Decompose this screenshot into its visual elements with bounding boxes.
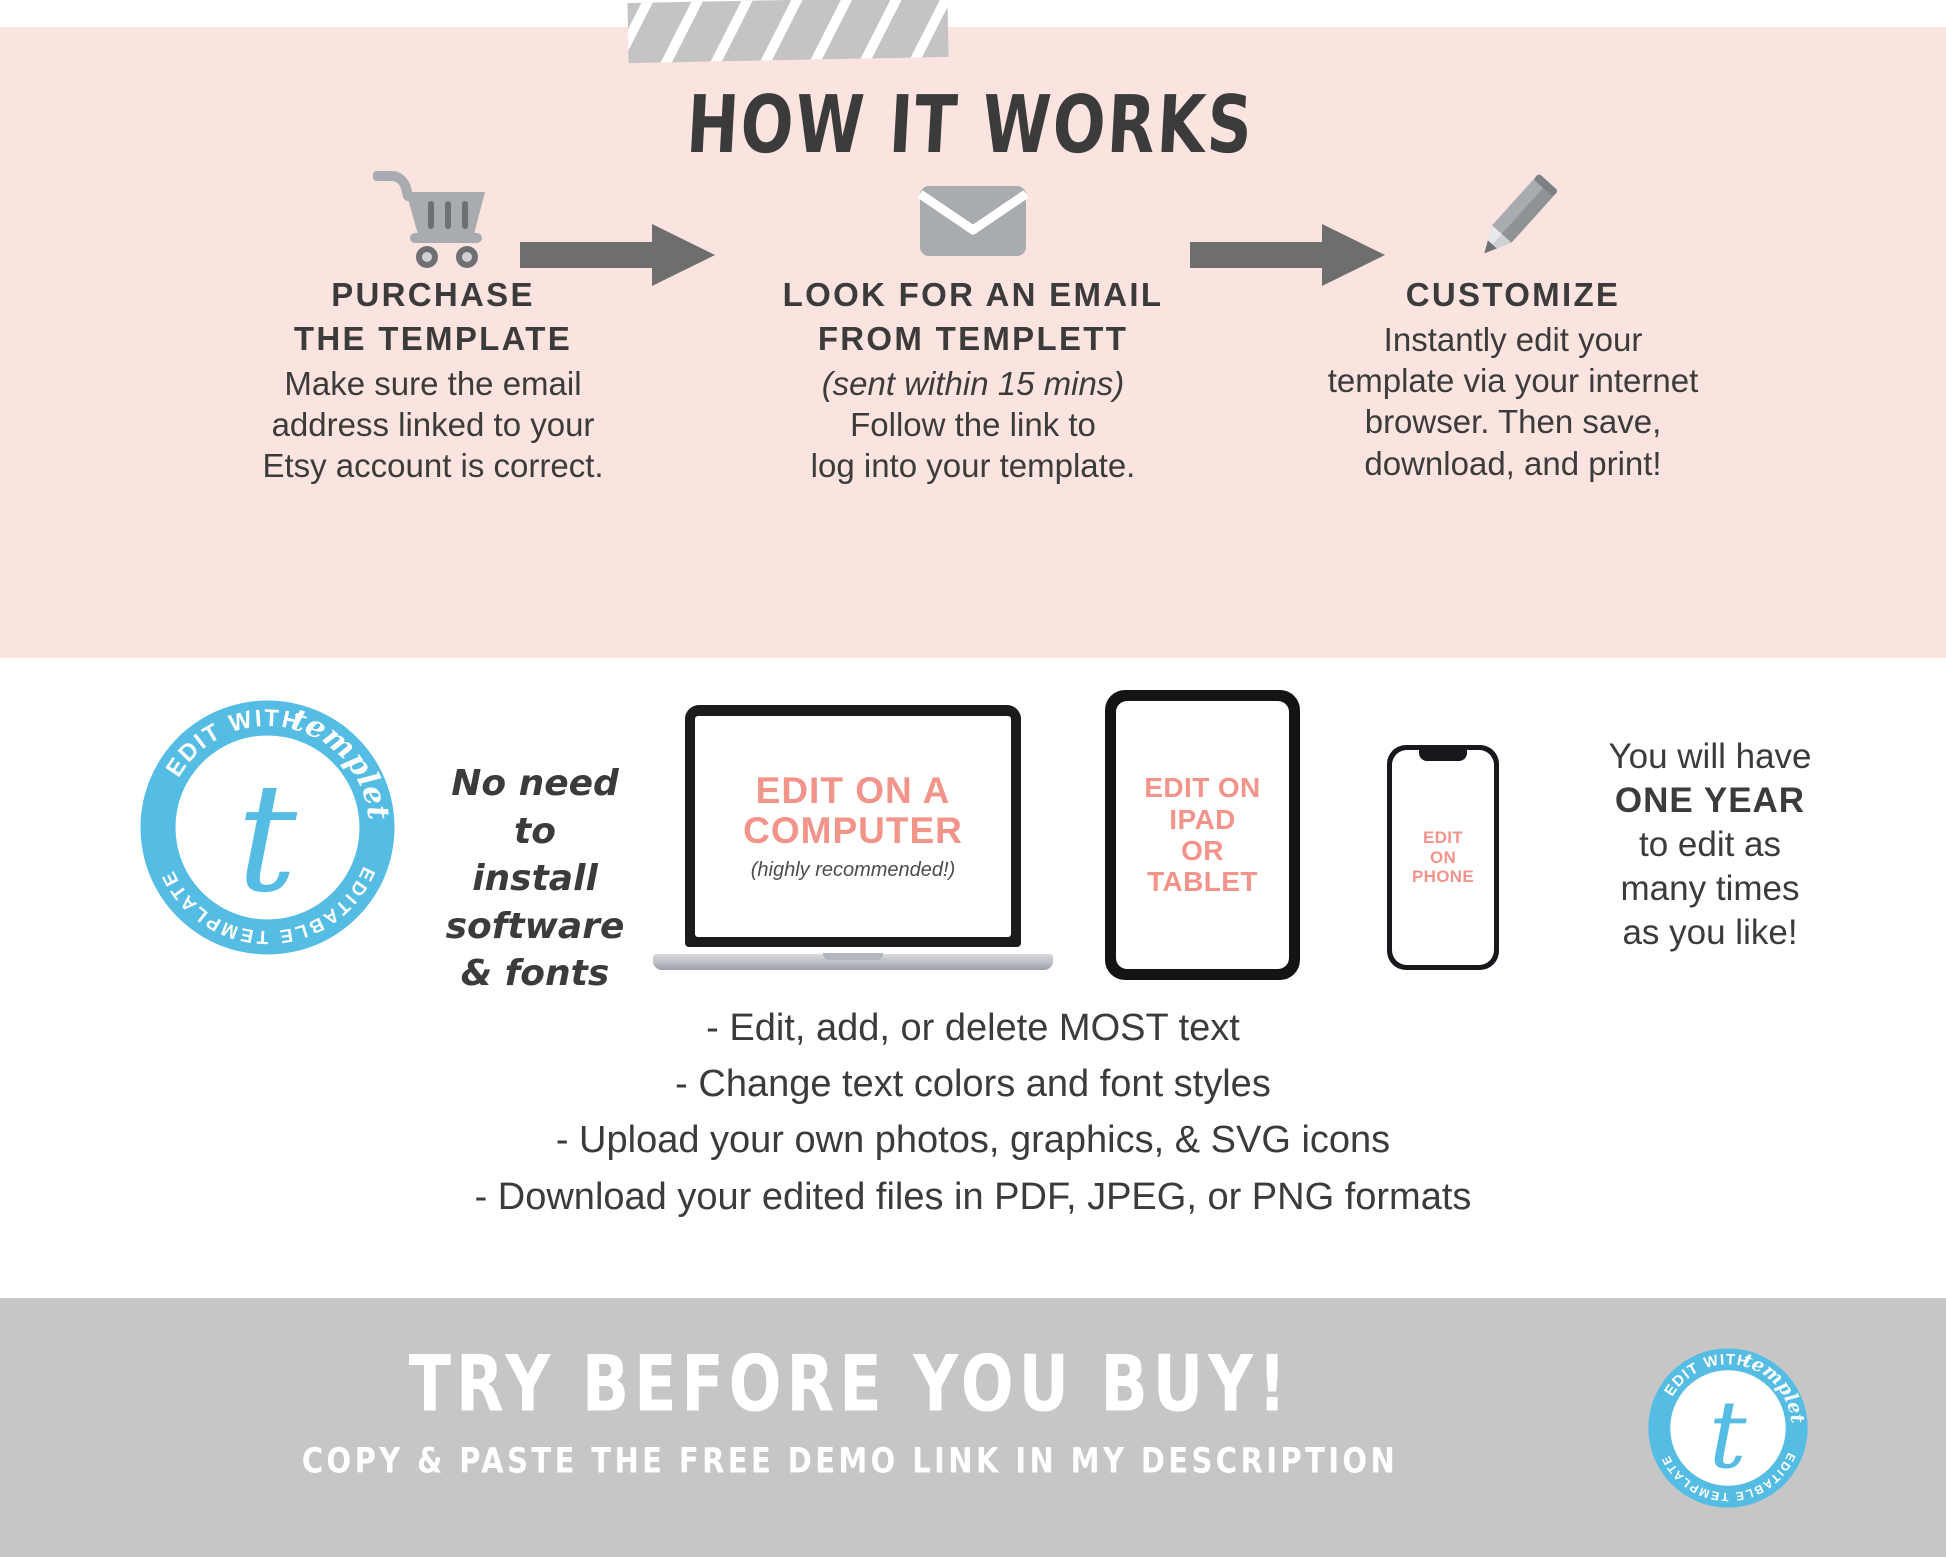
step-body-line1: Instantly edit your [1243,319,1783,360]
laptop-notch-icon [823,953,883,960]
laptop-device: EDIT ON A COMPUTER (highly recommended!) [653,705,1053,970]
no-need-line4: & fonts [445,950,625,998]
tablet-device: EDIT ON IPAD OR TABLET [1105,690,1300,980]
list-item: - Change text colors and font styles [0,1056,1946,1112]
no-need-line1: No need [445,760,625,808]
no-need-line3: software [445,903,625,951]
step-body-line3: browser. Then save, [1243,401,1783,442]
no-need-text: No need to install software & fonts [445,760,625,998]
step-body-line2: template via your internet [1243,360,1783,401]
step-heading-line1: LOOK FOR AN EMAIL [703,275,1243,316]
list-item: - Edit, add, or delete MOST text [0,1000,1946,1056]
step-body-line2: Follow the link to [703,404,1243,445]
step-heading-line2: THE TEMPLATE [163,319,703,360]
list-item: - Download your edited files in PDF, JPE… [0,1169,1946,1225]
badge-letter-t: t [1709,1381,1747,1490]
footer-subtitle: COPY & PASTE THE FREE DEMO LINK IN MY DE… [0,1440,1700,1481]
badge-letter-t: t [237,752,298,926]
phone-line1: EDIT [1412,828,1474,848]
page-title: HOW IT WORKS [0,78,1946,171]
shopping-cart-icon [163,165,703,275]
footer-title: TRY BEFORE YOU BUY! [0,1338,1700,1429]
step-body-line4: download, and print! [1243,443,1783,484]
washi-tape-icon [627,0,948,63]
step-look-for-email: LOOK FOR AN EMAIL FROM TEMPLETT (sent wi… [703,165,1243,487]
laptop-screen: EDIT ON A COMPUTER (highly recommended!) [695,716,1011,937]
phone-device: EDIT ON PHONE [1387,745,1499,970]
laptop-screen-line2: COMPUTER [743,811,963,851]
pencil-icon [1243,165,1783,275]
step-heading-line2: FROM TEMPLETT [703,319,1243,360]
step-body-line1: Make sure the email [163,363,703,404]
step-body-line3: log into your template. [703,445,1243,486]
one-year-text: You will have ONE YEAR to edit as many t… [1510,735,1910,955]
one-year-highlight: ONE YEAR [1615,781,1805,820]
phone-notch-icon [1419,750,1467,761]
laptop-screen-sub: (highly recommended!) [751,859,956,882]
one-year-line1: You will have [1510,735,1910,779]
step-body-line2: address linked to your [163,404,703,445]
laptop-lid: EDIT ON A COMPUTER (highly recommended!) [685,705,1021,947]
step-body-line1: (sent within 15 mins) [703,363,1243,404]
phone-line3: PHONE [1412,867,1474,887]
envelope-icon [703,165,1243,275]
one-year-line3: to edit as [1510,823,1910,867]
one-year-line4: many times [1510,867,1910,911]
list-item: - Upload your own photos, graphics, & SV… [0,1112,1946,1168]
phone-line2: ON [1412,848,1474,868]
tablet-line1: EDIT ON [1144,772,1260,803]
one-year-line5: as you like! [1510,911,1910,955]
templett-badge-icon-small: EDIT WITH templett EDITABLE TEMPLATE t [1648,1348,1808,1508]
tablet-screen: EDIT ON IPAD OR TABLET [1116,701,1289,969]
step-customize: CUSTOMIZE Instantly edit your template v… [1243,165,1783,484]
phone-screen: EDIT ON PHONE [1392,750,1494,965]
laptop-screen-line1: EDIT ON A [756,771,951,811]
feature-bullet-list: - Edit, add, or delete MOST text - Chang… [0,1000,1946,1225]
steps-row: PURCHASE THE TEMPLATE Make sure the emai… [0,165,1946,565]
tablet-line4: TABLET [1144,866,1260,897]
step-body-line3: Etsy account is correct. [163,445,703,486]
step-heading-line1: PURCHASE [163,275,703,316]
tablet-line2: IPAD [1144,804,1260,835]
step-purchase: PURCHASE THE TEMPLATE Make sure the emai… [163,165,703,487]
no-need-line2: to install [445,808,625,903]
step-heading-line1: CUSTOMIZE [1243,275,1783,316]
tablet-line3: OR [1144,835,1260,866]
templett-badge-icon: EDIT WITH templett EDITABLE TEMPLATE t [140,700,395,955]
